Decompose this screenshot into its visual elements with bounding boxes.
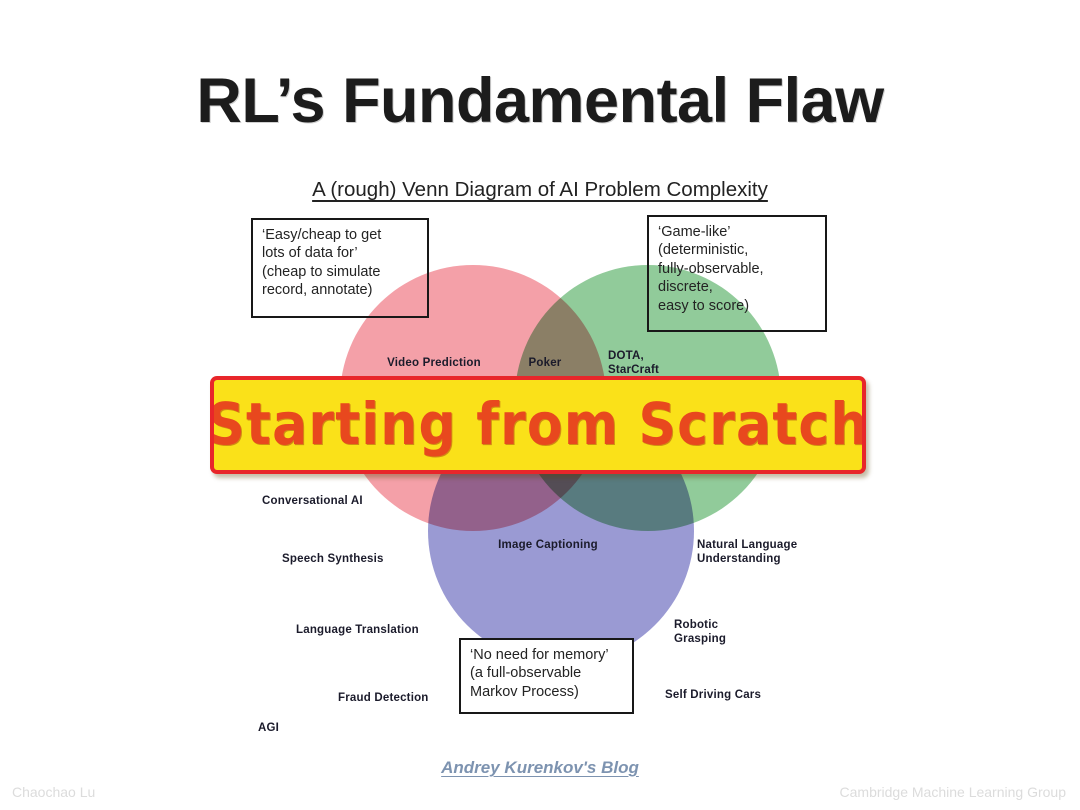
label-robotic-grasping: Robotic Grasping (674, 618, 726, 646)
label-speech-synthesis: Speech Synthesis (282, 552, 384, 566)
blog-link[interactable]: Andrey Kurenkov's Blog (0, 758, 1080, 778)
annotation-box-no-memory-needed: ‘No need for memory’ (a full-observable … (459, 638, 634, 714)
label-self-driving-cars: Self Driving Cars (665, 688, 761, 702)
annotation-box-easy-cheap-data: ‘Easy/cheap to get lots of data for’ (ch… (251, 218, 429, 318)
label-fraud-detection: Fraud Detection (338, 691, 429, 705)
label-natural-language-understanding: Natural Language Understanding (697, 538, 797, 566)
footer-author: Chaochao Lu (12, 784, 95, 800)
venn-label-video-prediction: Video Prediction (378, 357, 490, 371)
starting-from-scratch-banner: Starting from Scratch (210, 376, 866, 474)
footer-organization: Cambridge Machine Learning Group (840, 784, 1066, 800)
venn-label-image-captioning: Image Captioning (478, 539, 618, 553)
label-conversational-ai: Conversational AI (262, 494, 363, 508)
page-title: RL’s Fundamental Flaw (0, 68, 1080, 134)
venn-label-poker: Poker (510, 357, 580, 371)
subtitle: A (rough) Venn Diagram of AI Problem Com… (0, 178, 1080, 202)
slide-canvas: RL’s Fundamental Flaw A (rough) Venn Dia… (0, 0, 1080, 810)
venn-label-dota-starcraft: DOTA, StarCraft (608, 350, 700, 377)
banner-text: Starting from Scratch (210, 391, 866, 458)
label-agi: AGI (258, 721, 279, 735)
label-language-translation: Language Translation (296, 623, 419, 637)
annotation-box-game-like: ‘Game-like’ (deterministic, fully-observ… (647, 215, 827, 332)
